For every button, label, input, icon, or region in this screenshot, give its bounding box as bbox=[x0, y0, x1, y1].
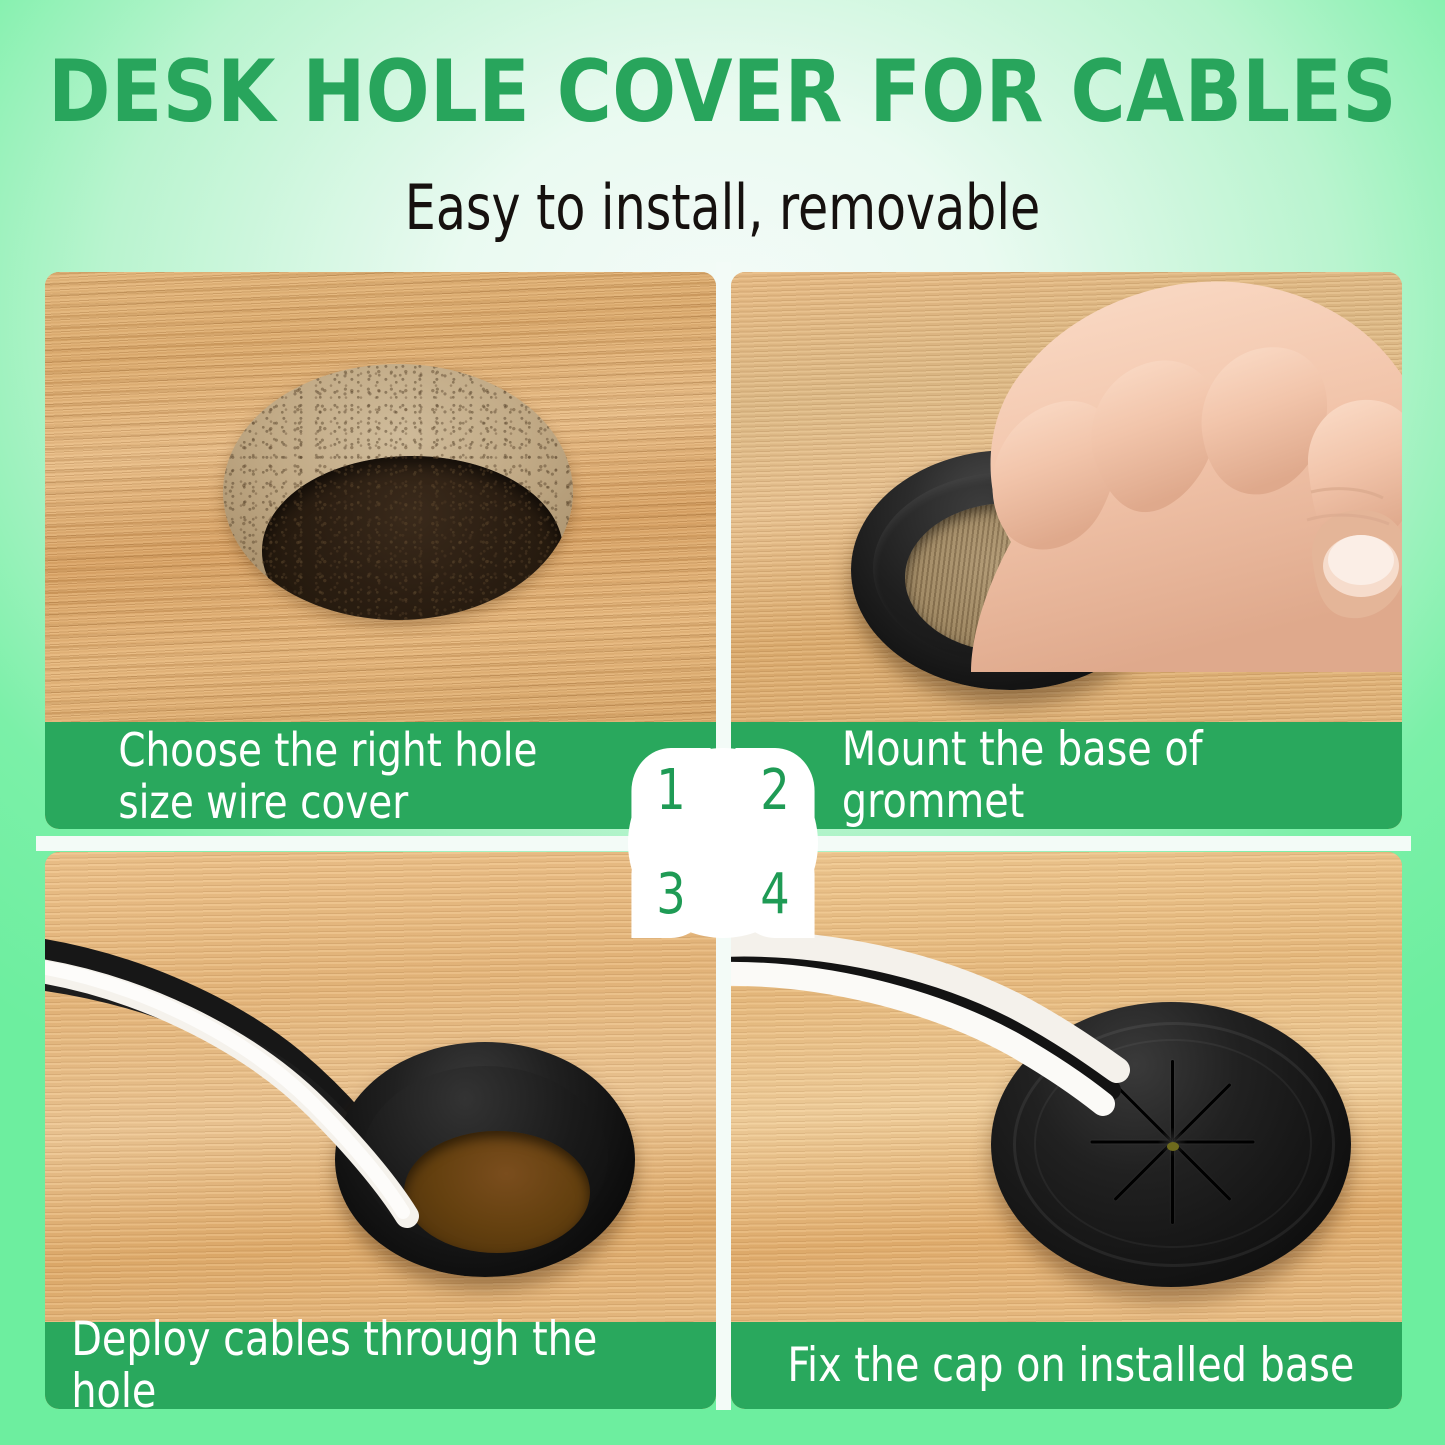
step-4-photo bbox=[731, 852, 1402, 1322]
badge-step-1: 1 bbox=[631, 748, 710, 834]
step-3-caption-text: Deploy cables through the hole bbox=[45, 1314, 676, 1410]
step-3-caption-bar: Deploy cables through the hole bbox=[45, 1322, 716, 1409]
page-subtitle: Easy to install, removable bbox=[87, 172, 1359, 244]
page-title: DESK HOLE COVER FOR CABLES bbox=[22, 42, 1424, 142]
step-1-photo bbox=[45, 272, 716, 722]
step-3-photo bbox=[45, 852, 716, 1322]
white-cable-icon bbox=[45, 852, 716, 1322]
step-number-badge: 1 2 3 4 bbox=[628, 748, 818, 938]
step-card-4: Fix the cap on installed base bbox=[731, 852, 1402, 1409]
badge-step-2: 2 bbox=[735, 748, 814, 834]
desk-hole-icon bbox=[223, 364, 573, 620]
step-2-photo bbox=[731, 272, 1402, 722]
step-2-caption-bar: Mount the base of grommet bbox=[731, 722, 1402, 829]
step-card-2: Mount the base of grommet bbox=[731, 272, 1402, 829]
step-1-caption-bar: Choose the right hole size wire cover bbox=[45, 722, 716, 829]
step-2-caption-text: Mount the base of grommet bbox=[731, 724, 1362, 828]
step-4-caption-bar: Fix the cap on installed base bbox=[731, 1322, 1402, 1409]
step-card-3: Deploy cables through the hole bbox=[45, 852, 716, 1409]
badge-step-3: 3 bbox=[631, 852, 710, 938]
product-infographic-poster: DESK HOLE COVER FOR CABLES Easy to insta… bbox=[0, 0, 1445, 1445]
cables-icon bbox=[731, 852, 1402, 1322]
step-1-caption-text: Choose the right hole size wire cover bbox=[45, 724, 537, 828]
hole-interior-icon bbox=[262, 456, 563, 620]
hand-icon bbox=[911, 272, 1402, 672]
step-4-caption-text: Fix the cap on installed base bbox=[731, 1340, 1354, 1392]
badge-step-4: 4 bbox=[735, 852, 814, 938]
step-card-1: Choose the right hole size wire cover bbox=[45, 272, 716, 829]
